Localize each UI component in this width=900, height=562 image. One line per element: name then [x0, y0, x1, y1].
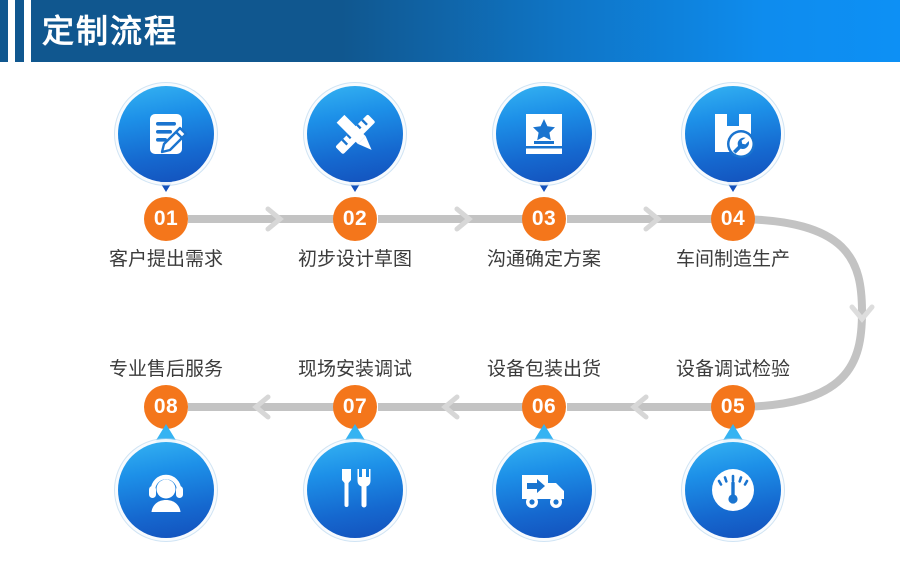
step-badge-03[interactable]: 03	[522, 197, 566, 241]
step-badge-02[interactable]: 02	[333, 197, 377, 241]
step-icon-04[interactable]	[685, 86, 781, 182]
step-icon-07[interactable]	[307, 442, 403, 538]
document-pencil-icon	[118, 86, 214, 182]
page-header: 定制流程	[0, 0, 900, 62]
process-flow-diagram: 01 客户提出需求	[0, 62, 900, 562]
book-star-icon	[496, 86, 592, 182]
step-label-08: 专业售后服务	[76, 354, 256, 381]
step-icon-05[interactable]	[685, 442, 781, 538]
step-badge-07[interactable]: 07	[333, 385, 377, 429]
step-icon-01[interactable]	[118, 86, 214, 182]
step-label-03: 沟通确定方案	[454, 244, 634, 271]
tools-icon	[307, 442, 403, 538]
headset-agent-icon	[118, 442, 214, 538]
pin-tail-08	[155, 424, 177, 442]
step-icon-03[interactable]	[496, 86, 592, 182]
gauge-icon	[685, 442, 781, 538]
page-title: 定制流程	[42, 10, 178, 52]
step-label-02: 初步设计草图	[265, 244, 445, 271]
step-badge-01[interactable]: 01	[144, 197, 188, 241]
step-badge-06[interactable]: 06	[522, 385, 566, 429]
step-label-06: 设备包装出货	[454, 354, 634, 381]
step-label-07: 现场安装调试	[265, 354, 445, 381]
pin-tail-07	[344, 424, 366, 442]
step-icon-08[interactable]	[118, 442, 214, 538]
factory-wrench-icon	[685, 86, 781, 182]
pin-tail-05	[722, 424, 744, 442]
header-accent-bar-1	[8, 0, 15, 62]
step-label-05: 设备调试检验	[643, 354, 823, 381]
header-accent-bar-2	[24, 0, 31, 62]
pin-tail-06	[533, 424, 555, 442]
step-icon-06[interactable]	[496, 442, 592, 538]
step-badge-05[interactable]: 05	[711, 385, 755, 429]
step-label-01: 客户提出需求	[76, 244, 256, 271]
delivery-truck-icon	[496, 442, 592, 538]
step-badge-04[interactable]: 04	[711, 197, 755, 241]
step-badge-08[interactable]: 08	[144, 385, 188, 429]
ruler-pencil-icon	[307, 86, 403, 182]
step-label-04: 车间制造生产	[643, 244, 823, 271]
step-icon-02[interactable]	[307, 86, 403, 182]
